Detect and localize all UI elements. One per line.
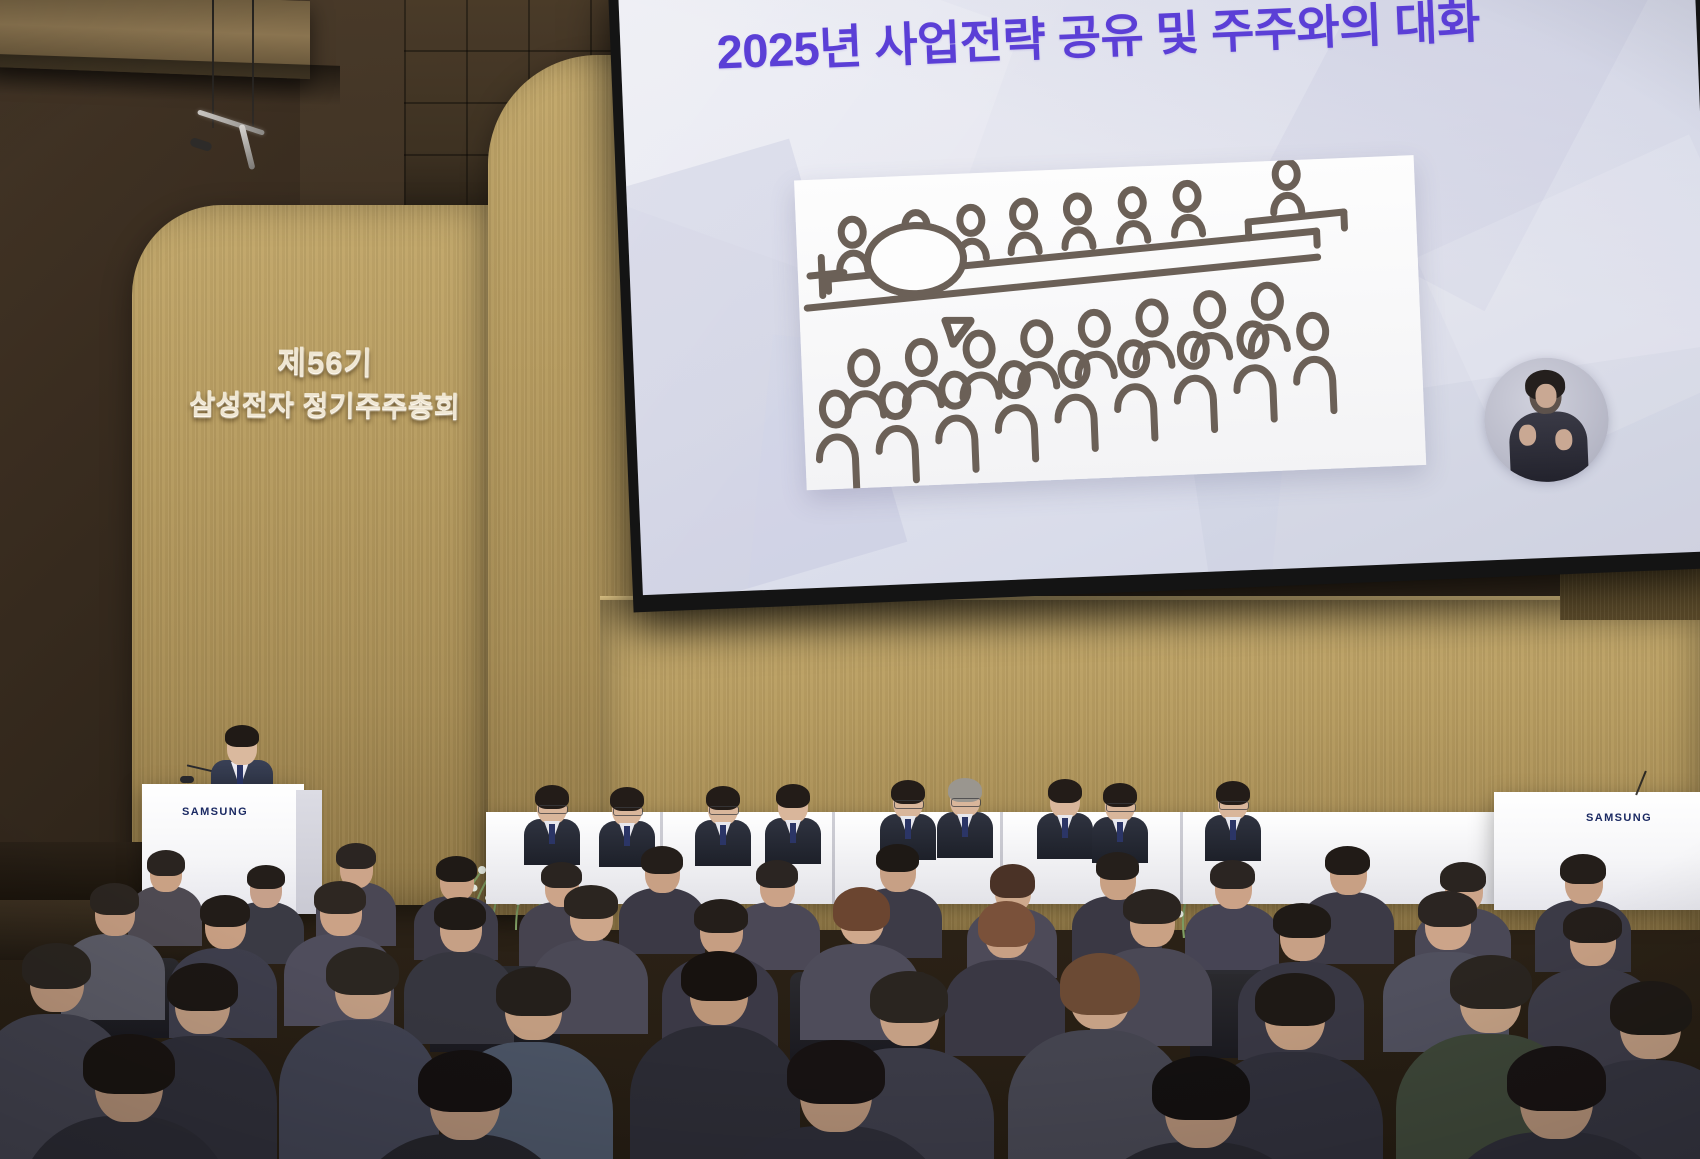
samsung-logo-right: SAMSUNG: [1586, 812, 1652, 824]
audience-hair: [1563, 907, 1622, 943]
audience-hair: [496, 967, 571, 1016]
interpreter-hand-right: [1555, 429, 1573, 451]
audience-hair: [1152, 1056, 1250, 1120]
audience-hair: [1123, 889, 1181, 924]
audience-hair: [787, 1040, 885, 1104]
panel-member-tie: [1117, 822, 1123, 842]
audience-area: [0, 840, 1700, 1159]
photo-scene: 제56기 삼성전자 정기주주총회 2025년 사업전략 공유 및 주주와의 대화: [0, 0, 1700, 1159]
audience-body: [619, 888, 705, 954]
audience-hair: [247, 865, 285, 889]
audience-hair: [1507, 1046, 1606, 1111]
projection-screen: 2025년 사업전략 공유 및 주주와의 대화: [608, 0, 1700, 627]
audience-hair: [1325, 846, 1370, 875]
audience-hair: [1096, 852, 1139, 880]
audience-hair: [990, 864, 1035, 898]
panel-member-tie: [905, 819, 911, 839]
audience-hair: [564, 885, 618, 919]
audience-hair: [641, 846, 683, 874]
panel-member-tie: [1062, 818, 1068, 838]
audience-hair: [870, 971, 948, 1023]
audience-hair: [1560, 854, 1606, 884]
audience-hair: [681, 951, 757, 1001]
audience-hair: [418, 1050, 512, 1112]
wall-sign-line1: 제56기: [175, 343, 475, 383]
event-wall-sign: 제56기 삼성전자 정기주주총회: [175, 343, 476, 423]
audience-hair: [147, 850, 185, 876]
microphone-wire-right: [252, 0, 254, 126]
audience-hair: [1255, 973, 1335, 1026]
panel-member-tie: [962, 817, 968, 837]
audience-hair: [83, 1034, 175, 1094]
audience-hair: [876, 844, 919, 872]
eyeglasses-icon: [613, 807, 643, 816]
audience-hair: [1450, 955, 1532, 1009]
slide-graphic-card: [794, 155, 1426, 490]
audience-hair: [978, 901, 1035, 947]
panel-and-audience-icon: [794, 155, 1426, 490]
wall-sign-line2: 삼성전자 정기주주총회: [175, 387, 475, 424]
audience-hair: [833, 887, 890, 931]
audience-hair: [200, 895, 250, 927]
eyeglasses-icon: [894, 800, 924, 809]
samsung-logo-left: SAMSUNG: [182, 806, 248, 818]
panel-member-hair: [776, 784, 810, 808]
panel-member-hair: [1048, 779, 1082, 803]
audience-hair: [436, 856, 477, 882]
audience-hair: [1418, 891, 1477, 927]
audience-hair: [434, 897, 486, 930]
audience-hair: [1440, 862, 1486, 892]
audience-hair: [326, 947, 399, 995]
speaker-hair: [225, 725, 259, 747]
panel-member-tie: [1230, 820, 1236, 840]
eyeglasses-icon: [1106, 803, 1136, 812]
audience-hair: [541, 862, 582, 888]
eyeglasses-icon: [538, 805, 568, 814]
audience-hair: [336, 843, 376, 869]
interpreter-hand-left: [1519, 424, 1537, 446]
microphone-wire-left: [212, 0, 214, 128]
audience-hair: [756, 860, 798, 888]
audience-hair: [22, 943, 91, 989]
audience-hair: [694, 899, 748, 933]
eyeglasses-icon: [709, 806, 739, 815]
audience-hair: [167, 963, 238, 1011]
screen-surface: 2025년 사업전략 공유 및 주주와의 대화: [618, 0, 1700, 595]
interpreter-face: [1535, 383, 1557, 408]
lectern-microphone-head: [180, 776, 194, 783]
audience-hair: [314, 881, 366, 914]
eyeglasses-icon: [1219, 801, 1249, 810]
eyeglasses-icon: [951, 798, 981, 807]
audience-hair: [1210, 860, 1255, 889]
audience-hair: [1610, 981, 1692, 1035]
audience-hair: [1273, 903, 1331, 938]
audience-hair: [1060, 953, 1140, 1015]
audience-hair: [90, 883, 139, 915]
interpreter-body: [1508, 410, 1589, 484]
